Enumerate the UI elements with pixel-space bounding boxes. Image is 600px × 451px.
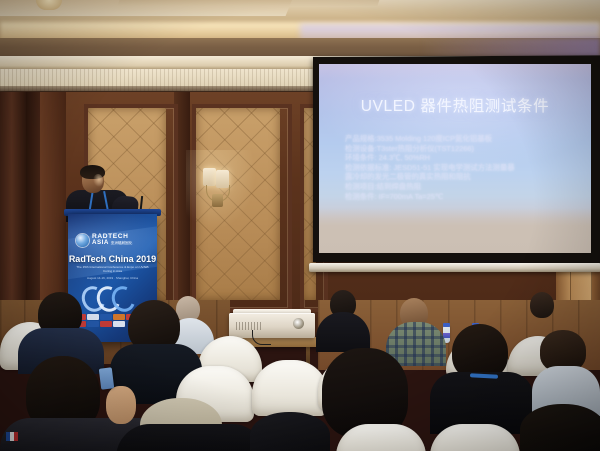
flag-patch (6, 432, 18, 441)
slide-line: 产品规格:3535 Molding 120度ICP氮化铝基板 (345, 134, 577, 144)
sponsor-logo (100, 321, 112, 327)
wall-sconce (203, 168, 237, 210)
logo-chinese-text: 亚洲辐射固化 (111, 241, 133, 245)
ceiling-coffer-center (117, 0, 382, 6)
slide-line: 环境条件: 24.3℃, 50%RH (345, 153, 577, 163)
projector-vent (236, 322, 262, 330)
sponsor-logo (113, 321, 125, 327)
globe-icon (76, 234, 89, 247)
smartphone[interactable] (99, 367, 114, 389)
projector-cable (252, 330, 271, 345)
event-name: RadTech China 2019 (68, 254, 157, 264)
speaker-face (93, 174, 103, 187)
slide-line: 检测项目:结到焊盘热阻 (345, 182, 577, 192)
audience-torso-front (116, 424, 266, 451)
bottle-cap (443, 323, 450, 327)
slide-body: 产品规格:3535 Molding 120度ICP氮化铝基板 检测设备:T3st… (345, 134, 577, 201)
sponsor-logo (100, 314, 112, 320)
slide-line: 检测条件: IF=700mA Ta=25℃ (345, 192, 577, 202)
event-date-venue: August 14-16, 2019 · Shanghai, China (72, 276, 153, 280)
radtech-logo-text: RADTECH ASIA 亚洲辐射固化 (92, 234, 132, 247)
slide-line: 检测设备:T3ster热阻分析仪(TST12266) (345, 144, 577, 154)
screen-lower-band (319, 208, 591, 253)
audience-head-front (520, 404, 600, 451)
logo-line-2: ASIA 亚洲辐射固化 (92, 240, 132, 246)
hand (106, 386, 136, 424)
projector-lens (293, 318, 304, 329)
sponsor-logo (87, 314, 99, 320)
conference-room-photo: UVLED 器件热阻测试条件 产品规格:3535 Molding 120度ICP… (0, 0, 600, 451)
slide-title: UVLED 器件热阻测试条件 (319, 94, 591, 116)
audience-head-front (250, 412, 330, 451)
event-subtitle-1: The 15th International Conference & Expo… (72, 265, 153, 273)
audience-head (530, 292, 554, 318)
slide-line: 检测依据标准: JESD51-51 实现电学测试方法测量暴 (345, 163, 577, 173)
radtech-logo: RADTECH ASIA 亚洲辐射固化 (76, 232, 150, 248)
slide-line: 露冷却的发光二极管的真实热阻和阻抗 (345, 172, 577, 182)
chair[interactable] (252, 360, 328, 416)
sconce-shade-left (203, 168, 216, 186)
sconce-backplate (212, 194, 223, 207)
screen-roller-bar (309, 263, 600, 272)
sponsor-logo (87, 321, 99, 327)
screen-surface: UVLED 器件热阻测试条件 产品规格:3535 Molding 120度ICP… (319, 64, 591, 253)
projection-screen: UVLED 器件热阻测试条件 产品规格:3535 Molding 120度ICP… (313, 57, 597, 262)
logo-asia-text: ASIA (92, 239, 109, 246)
ccc-swirl-graphic (82, 284, 144, 310)
sponsor-logo (113, 314, 125, 320)
